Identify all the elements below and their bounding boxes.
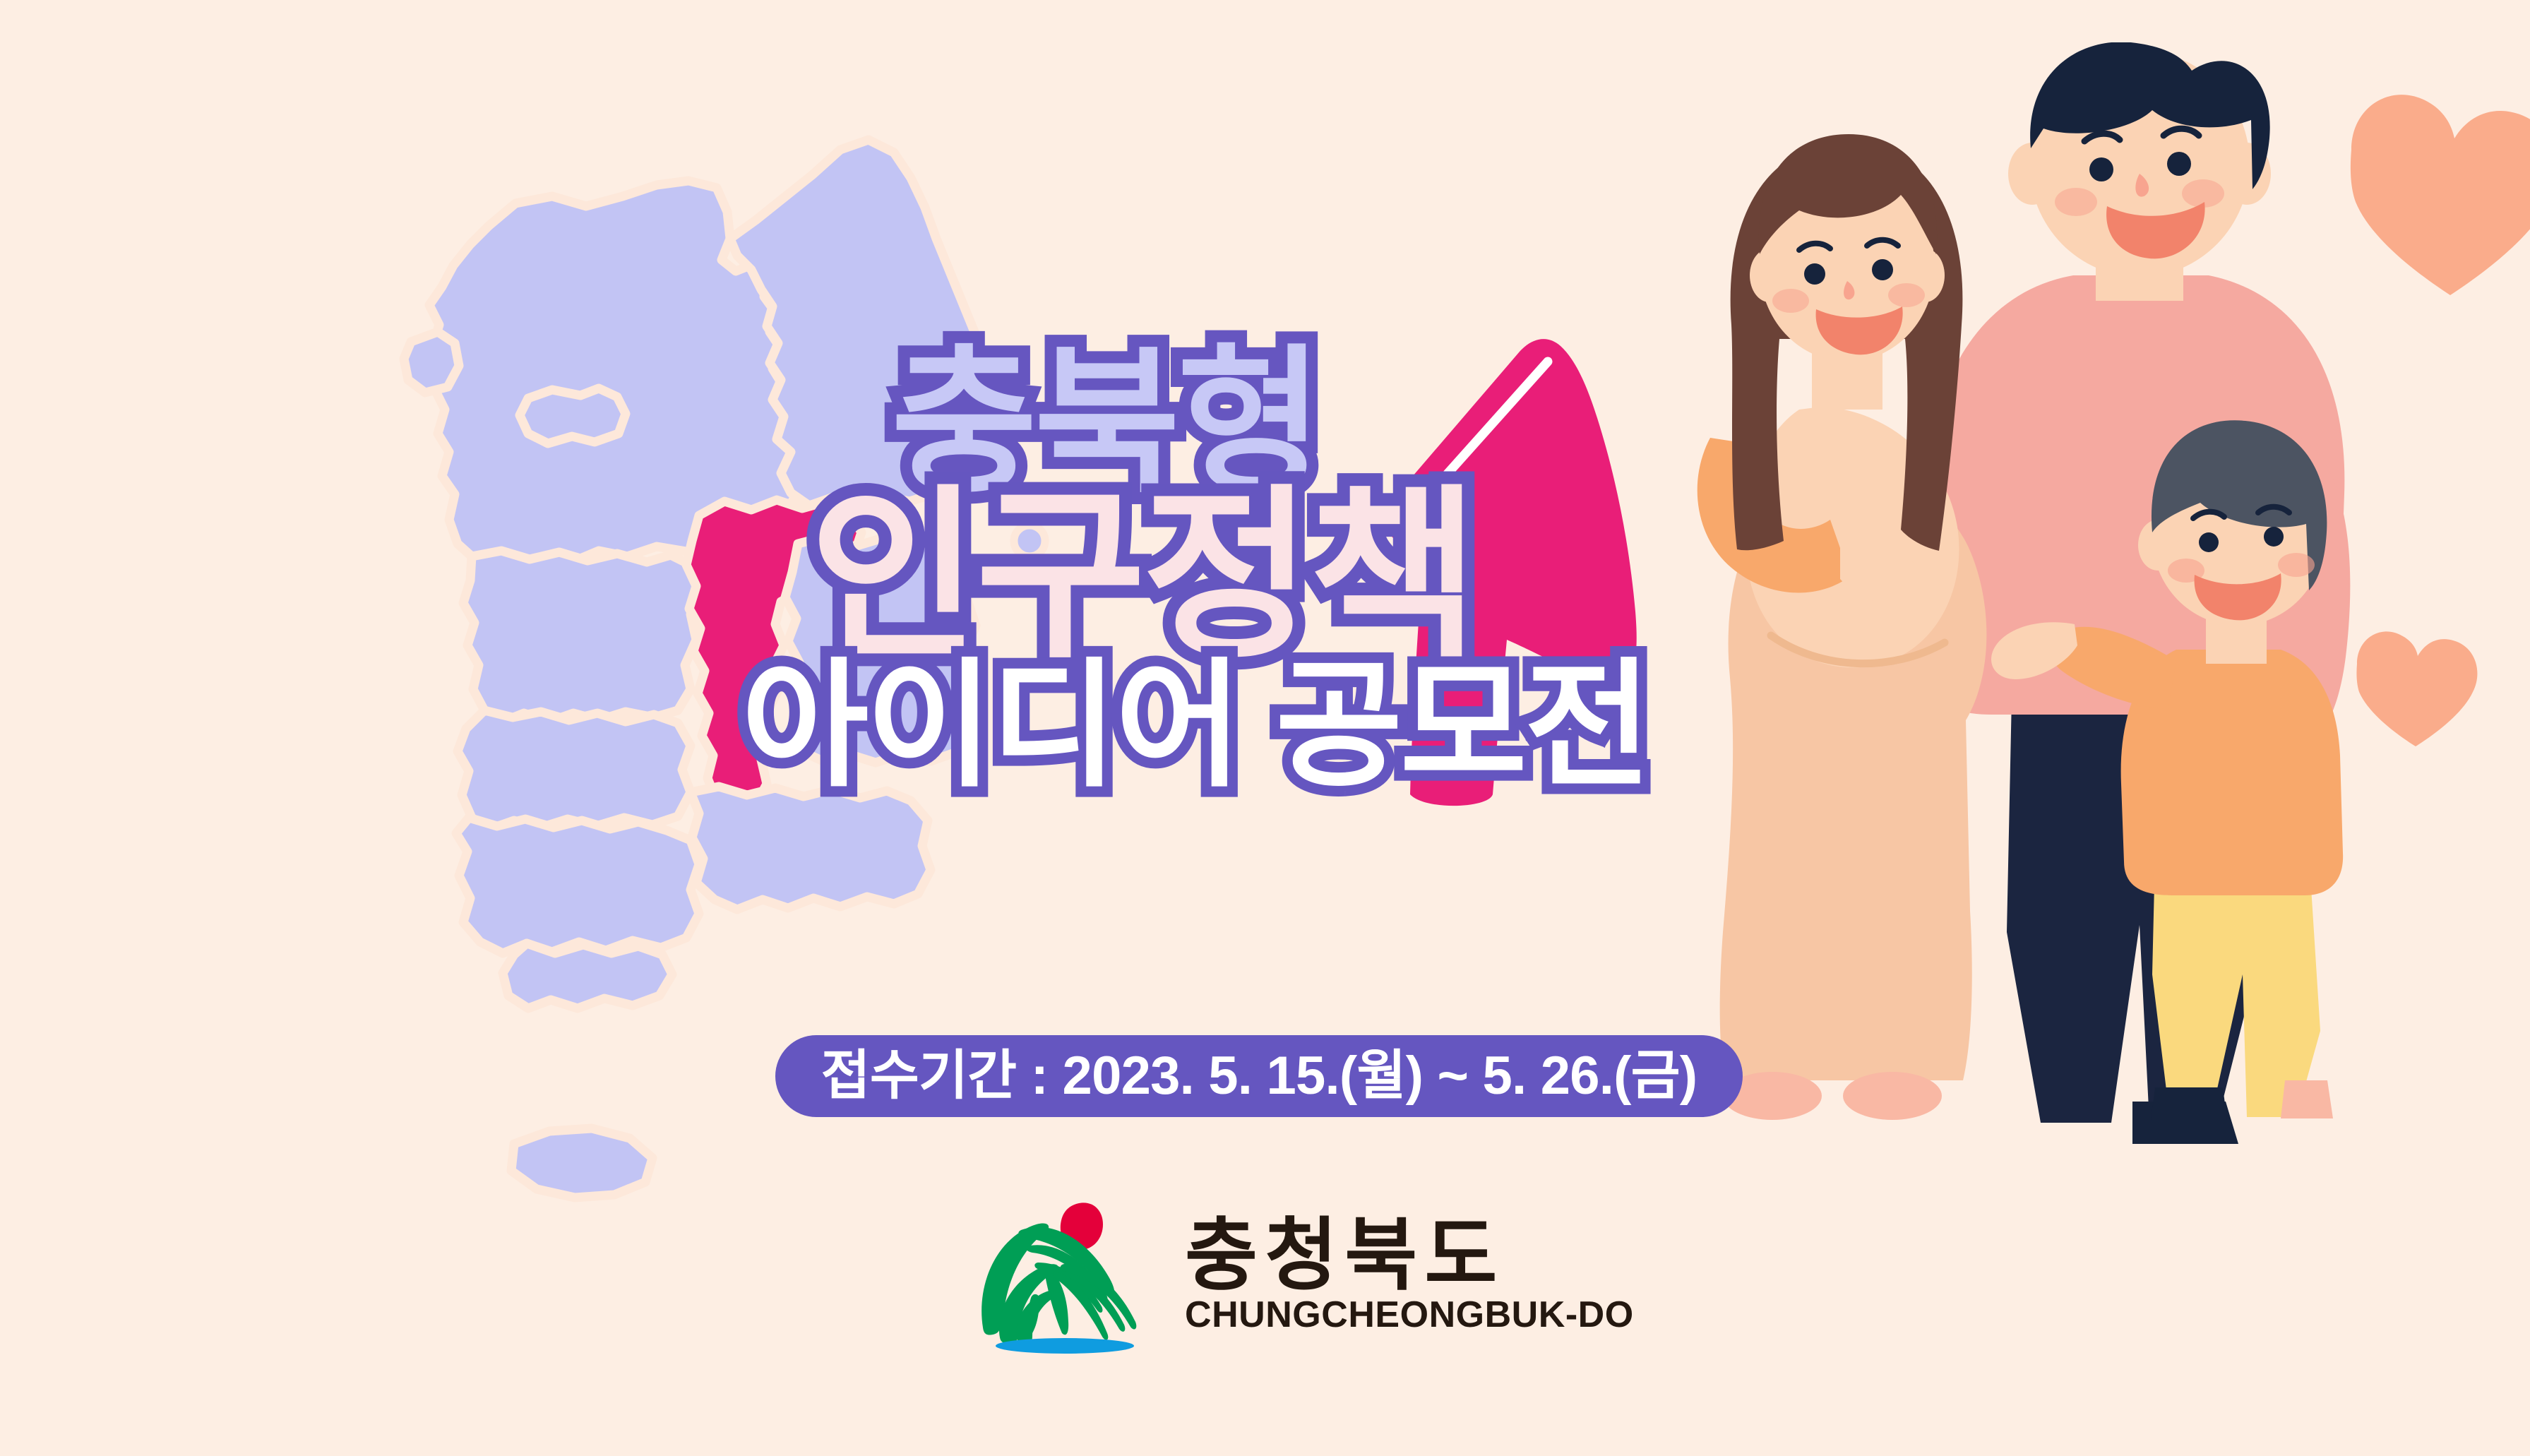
father-eye-right <box>2167 152 2191 176</box>
mother-cheek-left <box>1772 289 1809 313</box>
poster-canvas: 충북형 인구정책 아이디어 공모전 접수기간 : 2023. 5. 15.(월)… <box>0 0 2530 1456</box>
child-ear <box>2138 520 2178 571</box>
map-region-seoul <box>520 388 626 443</box>
mother-eye-right <box>1872 259 1893 280</box>
map-region-gyeongnam <box>691 787 931 909</box>
map-region-chungnam <box>463 551 699 722</box>
province-emblem-icon <box>974 1193 1151 1356</box>
title-line-2: 인구정책 <box>809 487 1801 665</box>
child-eye-right <box>2264 527 2284 547</box>
application-period-banner: 접수기간 : 2023. 5. 15.(월) ~ 5. 26.(금) <box>775 1035 1743 1117</box>
emblem-water-icon <box>996 1338 1134 1354</box>
heart-icon-right <box>2356 631 2477 746</box>
family-illustration <box>1681 42 2530 1215</box>
emblem-grass-icon <box>981 1224 1136 1345</box>
logo-name-korean: 충청북도 <box>1185 1216 1634 1295</box>
mother-foot-right <box>1843 1072 1942 1120</box>
map-region-jeju <box>511 1128 652 1198</box>
title-line-3: 아이디어 공모전 <box>741 660 1801 792</box>
poster-title: 충북형 인구정책 아이디어 공모전 <box>741 346 1801 792</box>
child-eye-left <box>2199 532 2219 552</box>
application-period-text: 접수기간 : 2023. 5. 15.(월) ~ 5. 26.(금) <box>821 1049 1697 1103</box>
father-cheek-left <box>2055 188 2097 216</box>
child-cheek-right <box>2278 553 2315 577</box>
chungcheongbuk-do-logo: 충청북도 CHUNGCHEONGBUK-DO <box>974 1193 1634 1356</box>
logo-name-english: CHUNGCHEONGBUK-DO <box>1185 1296 1634 1333</box>
map-region-south-tip <box>503 943 672 1008</box>
child-shoe-right <box>2281 1080 2333 1118</box>
logo-wordmark: 충청북도 CHUNGCHEONGBUK-DO <box>1185 1216 1634 1333</box>
map-region-jeonbuk <box>458 710 691 829</box>
father-ear-left <box>2008 143 2056 205</box>
map-region-incheon <box>404 332 459 393</box>
father-eye-left <box>2089 157 2113 181</box>
child-shoe-left <box>2151 1087 2227 1120</box>
heart-icon-top <box>2351 95 2530 295</box>
map-region-jeonnam <box>456 818 699 953</box>
mother-eye-left <box>1804 263 1825 285</box>
mother-cheek-right <box>1888 283 1925 307</box>
